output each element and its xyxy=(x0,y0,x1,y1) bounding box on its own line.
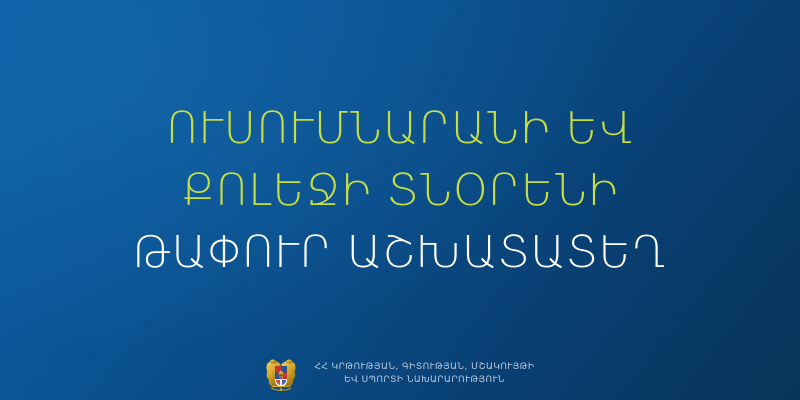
announcement-banner: ՈՒՍՈՒՄՆԱՐԱՆԻ ԵՎ ՔՈԼԵՋԻ ՏՆՕՐԵՆԻ ԹԱՓՈՒՐ ԱՇ… xyxy=(0,0,800,400)
ministry-name-line-1: ՀՀ ԿՐԹՈՒԹՅԱՆ, ԳԻՏՈՒԹՅԱՆ, ՄՇԱԿՈՒՅԹԻ xyxy=(314,362,534,373)
headline-line-1: ՈՒՍՈՒՄՆԱՐԱՆԻ ԵՎ xyxy=(30,98,770,160)
ministry-name-block: ՀՀ ԿՐԹՈՒԹՅԱՆ, ԳԻՏՈՒԹՅԱՆ, ՄՇԱԿՈՒՅԹԻ ԵՎ ՍՊ… xyxy=(314,362,534,386)
armenian-coat-of-arms-icon xyxy=(265,356,297,392)
footer-branding: ՀՀ ԿՐԹՈՒԹՅԱՆ, ԳԻՏՈՒԹՅԱՆ, ՄՇԱԿՈՒՅԹԻ ԵՎ ՍՊ… xyxy=(0,356,800,392)
ministry-name-line-2: ԵՎ ՍՊՈՐՏԻ ՆԱԽԱՐԱՐՈՒԹՅՈՒՆ xyxy=(344,375,505,386)
headline-block: ՈՒՍՈՒՄՆԱՐԱՆԻ ԵՎ ՔՈԼԵՋԻ ՏՆՕՐԵՆԻ ԹԱՓՈՒՐ ԱՇ… xyxy=(0,98,800,284)
headline-line-2: ՔՈԼԵՋԻ ՏՆՕՐԵՆԻ xyxy=(30,160,770,222)
headline-line-3: ԹԱՓՈՒՐ ԱՇԽԱՏԱՏԵՂ xyxy=(30,222,770,284)
